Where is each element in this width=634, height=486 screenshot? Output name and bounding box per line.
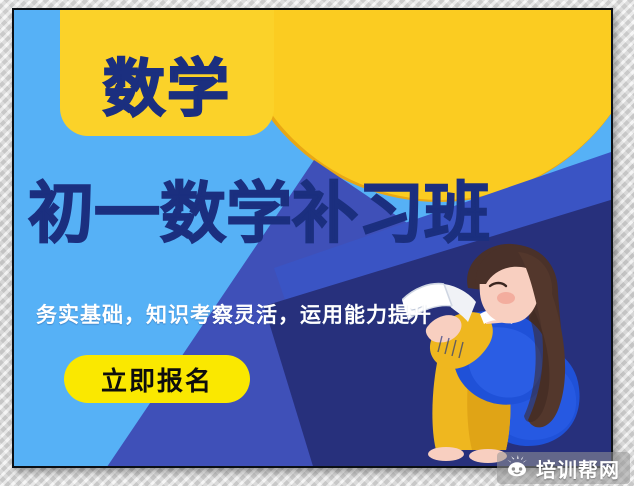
page-title: 初一数学补习班 bbox=[28, 180, 603, 247]
course-poster: 数学 bbox=[12, 8, 613, 468]
sun-eye-logo-icon bbox=[505, 455, 529, 482]
watermark: 培训帮网 bbox=[497, 452, 630, 484]
subject-badge: 数学 bbox=[60, 8, 274, 136]
subtitle-text: 务实基础，知识考察灵活，运用能力提升 bbox=[36, 299, 432, 329]
poster-mat-background: 数学 bbox=[0, 0, 634, 486]
enroll-now-button-label: 立即报名 bbox=[101, 361, 213, 398]
watermark-text: 培训帮网 bbox=[536, 454, 620, 483]
enroll-now-button[interactable]: 立即报名 bbox=[64, 355, 250, 403]
girl-reading-book-illustration bbox=[402, 240, 613, 468]
subject-badge-label: 数学 bbox=[103, 58, 231, 136]
